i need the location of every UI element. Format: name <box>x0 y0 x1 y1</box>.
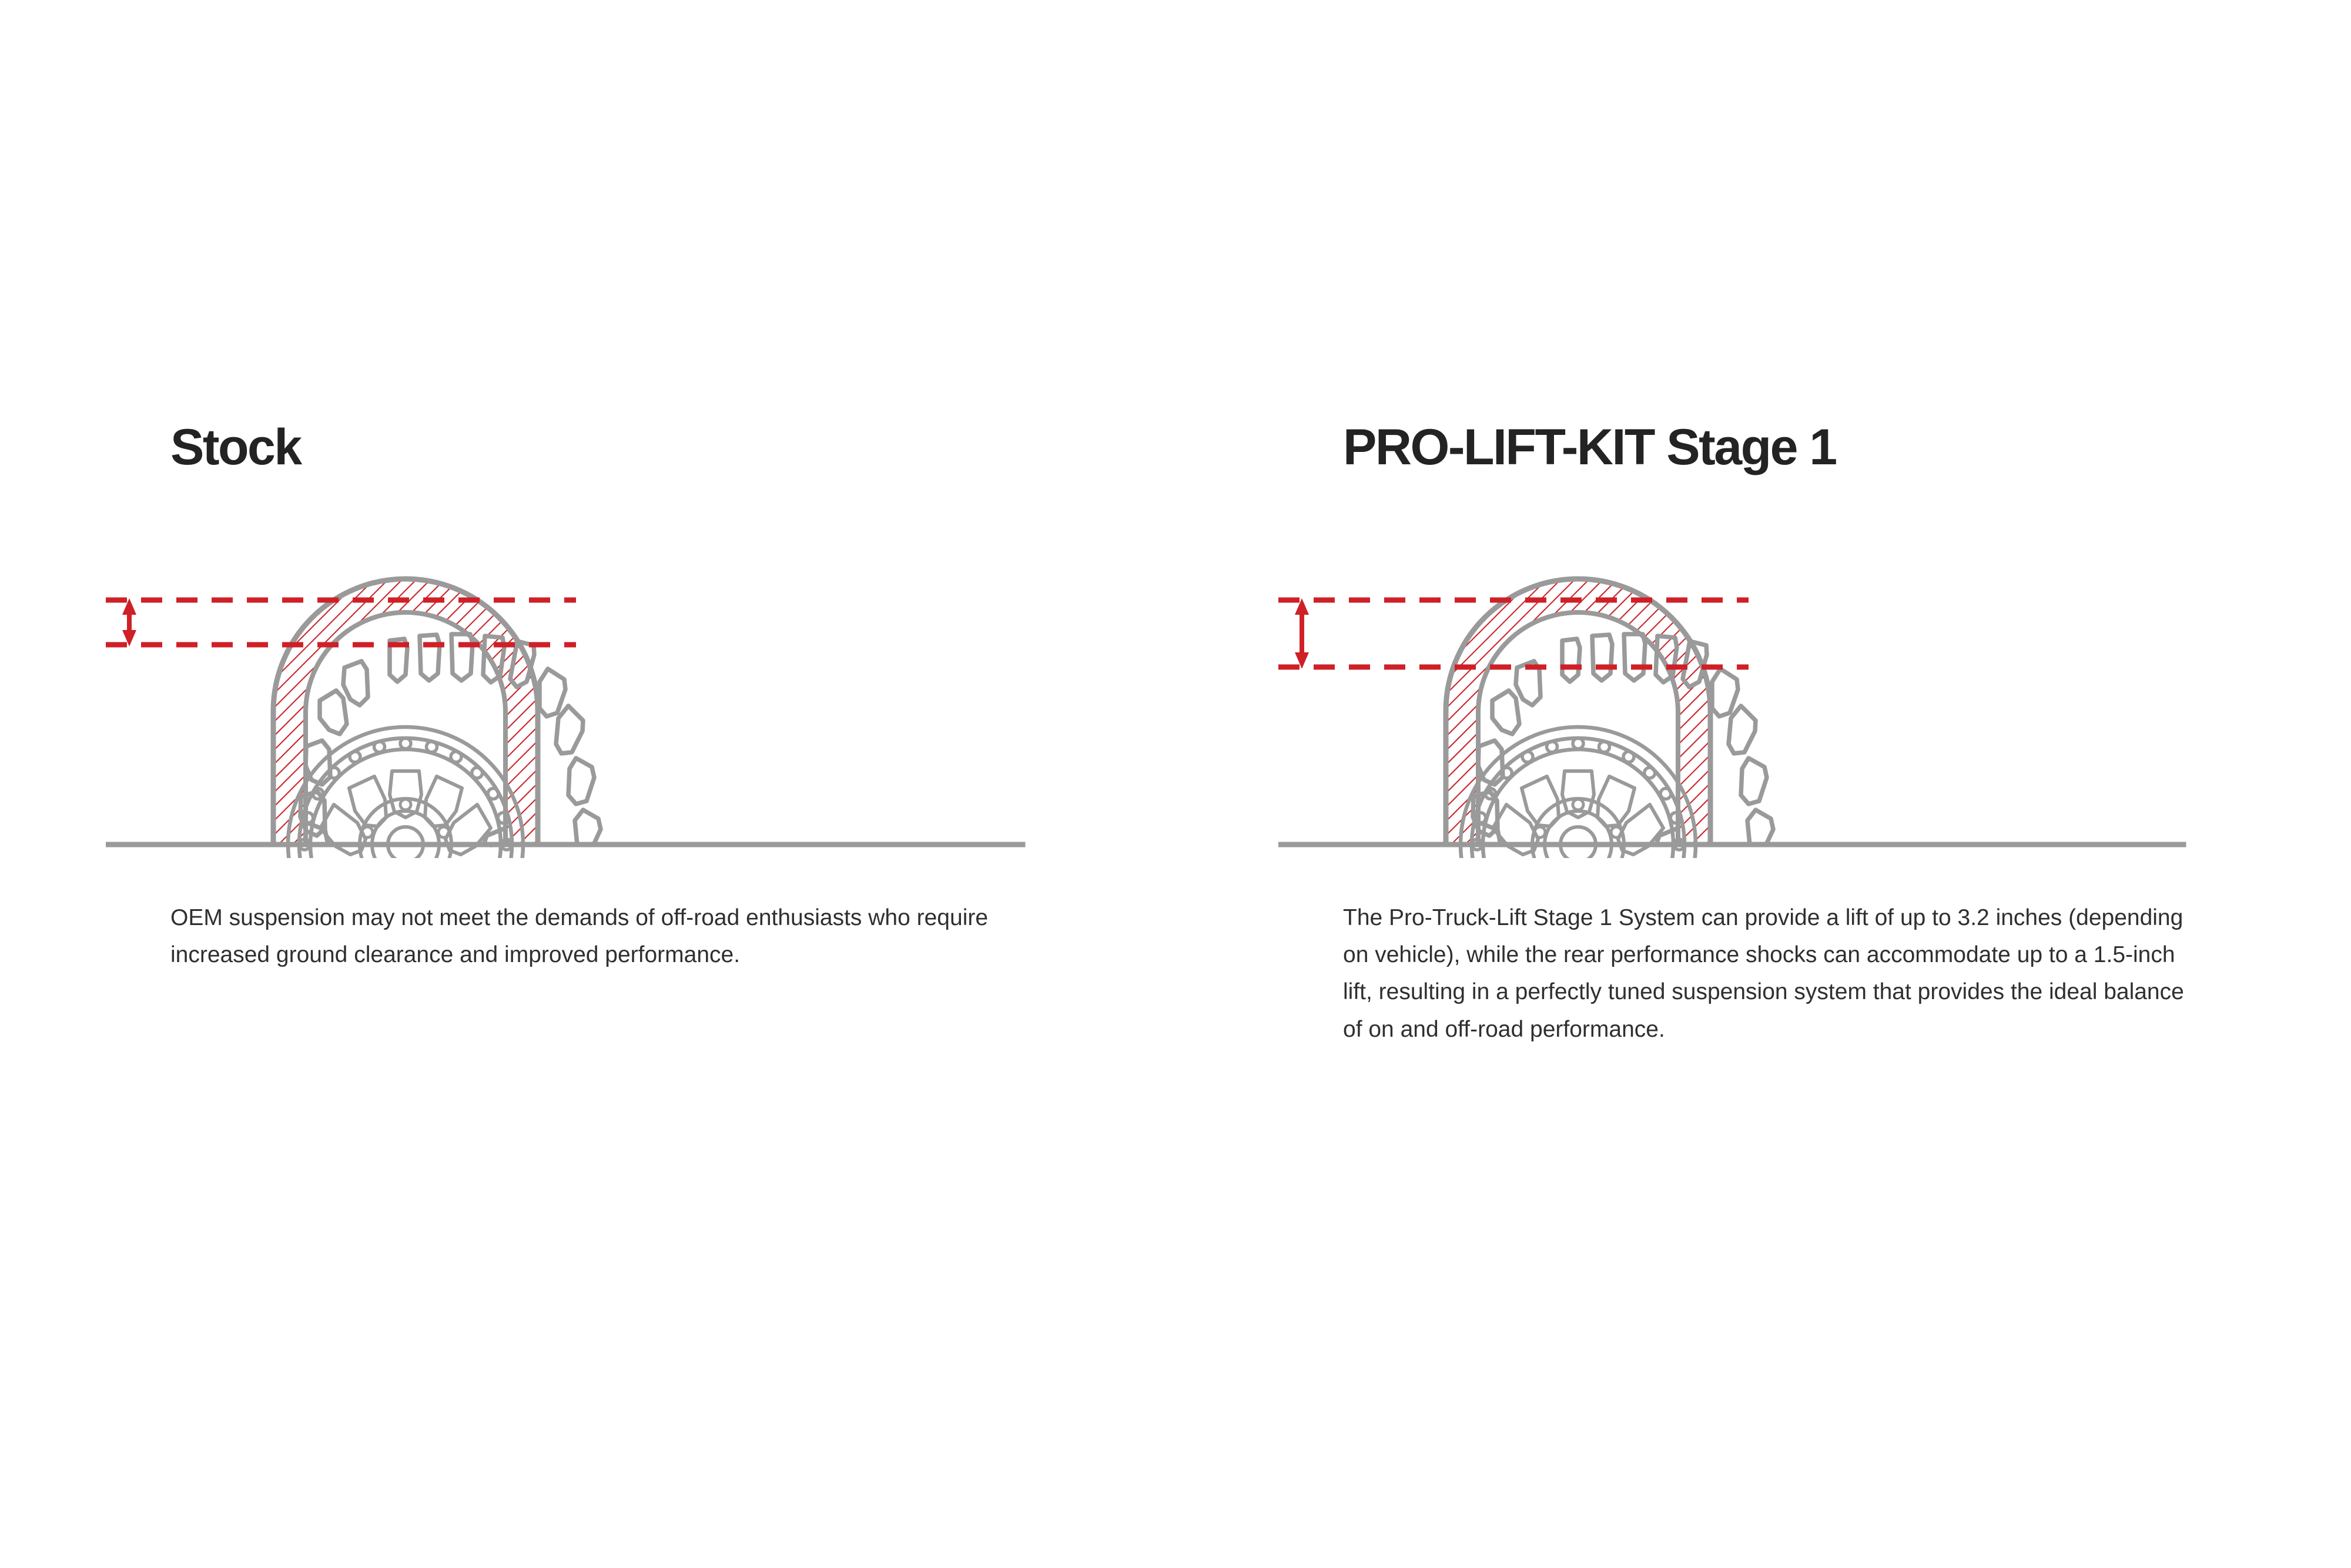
panel-heading-pro-lift-kit: PRO-LIFT-KIT Stage 1 <box>1343 422 1836 473</box>
panel-body-text-stock: OEM suspension may not meet the demands … <box>170 899 1023 973</box>
panel-body-text-pro-lift-kit: The Pro-Truck-Lift Stage 1 System can pr… <box>1343 899 2195 1048</box>
panel-heading-stock: Stock <box>170 422 301 473</box>
tire-sidewall-hatch <box>106 564 1099 858</box>
tire-sidewall-hatch <box>1278 564 2272 858</box>
stock-suspension-diagram <box>106 564 1099 858</box>
pro-lift-kit-suspension-diagram <box>1278 564 2272 858</box>
panel-body-pro-lift-kit: The Pro-Truck-Lift Stage 1 System can pr… <box>1343 899 2195 1048</box>
panel-body-stock: OEM suspension may not meet the demands … <box>170 899 1023 973</box>
